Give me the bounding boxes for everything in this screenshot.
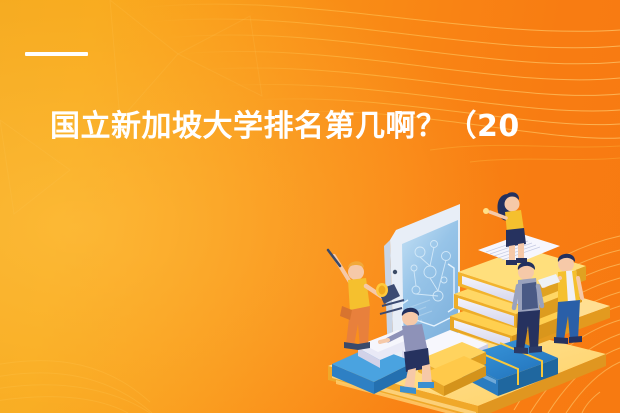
illustration-books-and-tablet bbox=[310, 168, 620, 413]
coin-accent bbox=[376, 283, 388, 297]
banner-image: 国立新加坡大学排名第几啊？（20 bbox=[0, 0, 620, 413]
accent-rule bbox=[25, 52, 88, 56]
page-title: 国立新加坡大学排名第几啊？（20 bbox=[50, 106, 620, 148]
